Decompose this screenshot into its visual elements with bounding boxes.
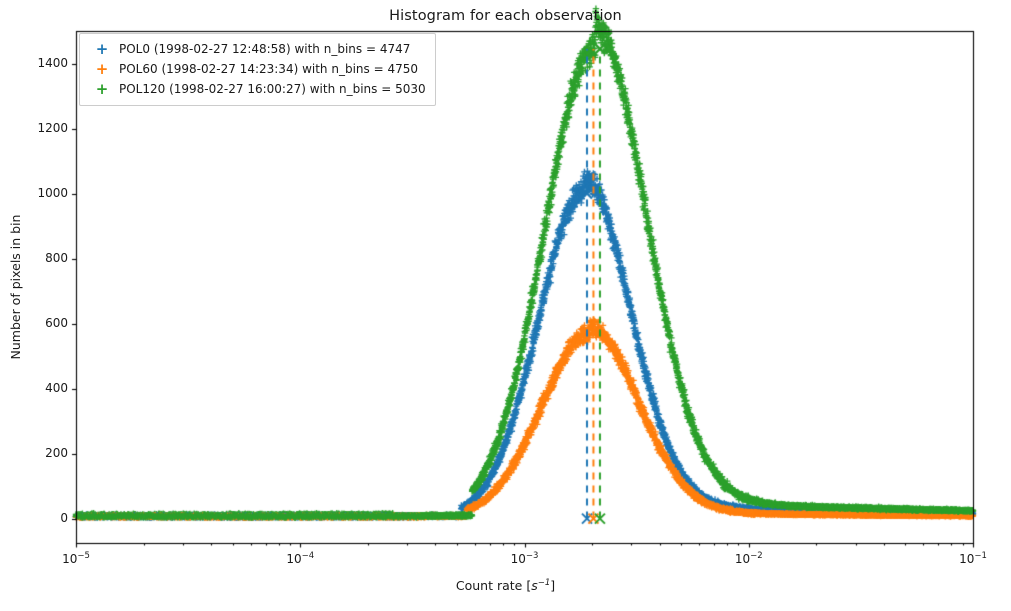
matplotlib-figure: Histogram for each observation Count rat… <box>0 0 1011 611</box>
x-axis-label: Count rate [s−1] <box>0 578 1011 593</box>
legend-marker-pol60: + <box>87 62 117 77</box>
x-axis-label-suffix: ] <box>550 578 555 593</box>
x-axis-label-prefix: Count rate [ <box>456 578 531 593</box>
legend-entry: + POL0 (1998-02-27 12:48:58) with n_bins… <box>87 39 426 59</box>
y-tick-1400: 1400 <box>20 56 68 70</box>
x-tick-10−3: 10−3 <box>490 551 560 566</box>
y-tick-200: 200 <box>20 446 68 460</box>
legend-label-pol60: POL60 (1998-02-27 14:23:34) with n_bins … <box>117 62 418 76</box>
y-tick-1200: 1200 <box>20 121 68 135</box>
legend-label-pol0: POL0 (1998-02-27 12:48:58) with n_bins =… <box>117 42 410 56</box>
x-tick-10−4: 10−4 <box>265 551 335 566</box>
y-tick-600: 600 <box>20 316 68 330</box>
x-tick-10−1: 10−1 <box>938 551 1008 566</box>
chart-title: Histogram for each observation <box>0 8 1011 24</box>
legend-marker-pol0: + <box>87 42 117 57</box>
y-axis-label-wrapper: Number of pixels in bin <box>8 177 26 397</box>
y-tick-400: 400 <box>20 381 68 395</box>
y-tick-0: 0 <box>20 511 68 525</box>
y-tick-1000: 1000 <box>20 186 68 200</box>
x-tick-10−5: 10−5 <box>41 551 111 566</box>
x-axis-label-exponent: −1 <box>538 578 551 588</box>
x-tick-10−2: 10−2 <box>714 551 784 566</box>
legend: + POL0 (1998-02-27 12:48:58) with n_bins… <box>79 33 436 106</box>
y-tick-800: 800 <box>20 251 68 265</box>
legend-label-pol120: POL120 (1998-02-27 16:00:27) with n_bins… <box>117 82 426 96</box>
legend-entry: + POL60 (1998-02-27 14:23:34) with n_bin… <box>87 59 426 79</box>
y-axis-label: Number of pixels in bin <box>8 177 23 397</box>
legend-entry: + POL120 (1998-02-27 16:00:27) with n_bi… <box>87 79 426 99</box>
legend-marker-pol120: + <box>87 82 117 97</box>
